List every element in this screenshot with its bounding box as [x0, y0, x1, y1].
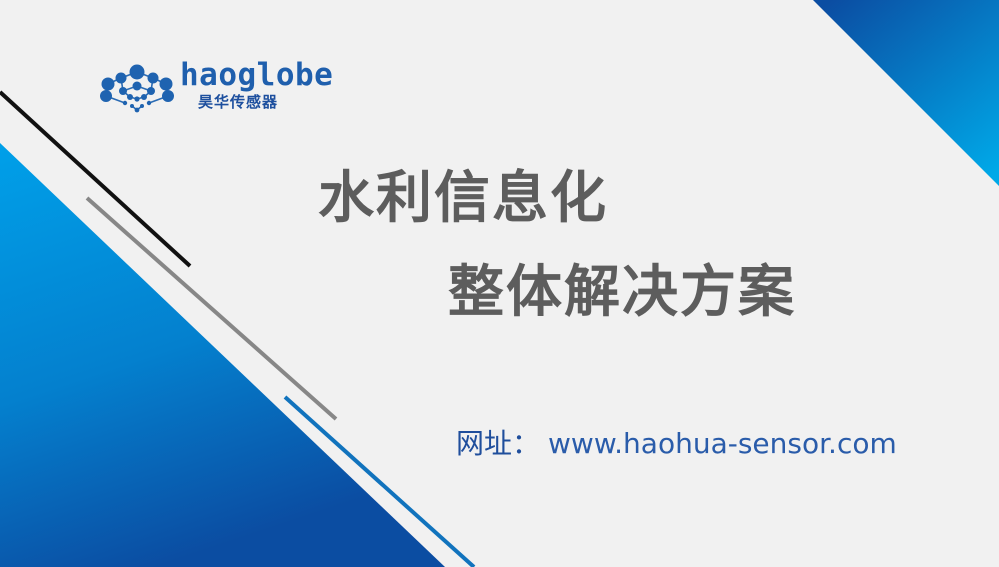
slide-title-line-2: 整体解决方案 [448, 260, 796, 326]
slide-title-line-1: 水利信息化 [318, 166, 608, 232]
logo-wordmark: haoglobe [180, 58, 333, 92]
website-url[interactable]: www.haohua-sensor.com [548, 427, 897, 460]
website-line: 网址： www.haohua-sensor.com [456, 422, 897, 462]
company-logo: haoglobe 昊华传感器 [98, 58, 318, 120]
logo-subtitle: 昊华传感器 [198, 93, 278, 111]
top-right-blue-triangle [813, 0, 999, 186]
website-label: 网址： [456, 422, 540, 462]
logo-text-block: haoglobe 昊华传感器 [180, 58, 320, 120]
presentation-slide: haoglobe 昊华传感器 水利信息化 整体解决方案 网址： www.haoh… [0, 0, 999, 567]
network-dots-icon [98, 64, 176, 116]
